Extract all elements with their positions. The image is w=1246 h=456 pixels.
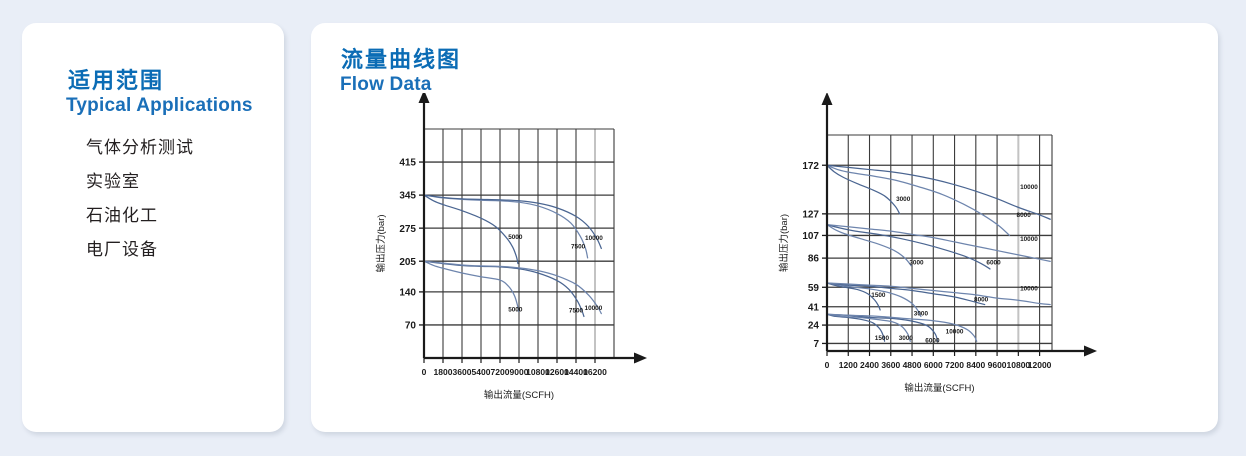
curve-label: 10000 — [1020, 286, 1038, 293]
x-axis-title: 输出流量(SCFH) — [484, 389, 554, 401]
x-axis-arrow-icon — [634, 353, 647, 364]
curve-label: 6000 — [925, 337, 940, 344]
x-tick-label: 9600 — [988, 360, 1007, 370]
flow-chart-1-svg: 7014020527534541501800360054007200900010… — [325, 93, 745, 423]
y-tick-label: 70 — [405, 321, 417, 332]
curve-label: 10000 — [585, 305, 603, 312]
list-item: 石油化工 — [66, 199, 266, 233]
curve-label: 7500 — [569, 308, 584, 315]
y-tick-label: 415 — [399, 158, 416, 169]
x-tick-label: 3600 — [881, 360, 900, 370]
y-tick-label: 59 — [808, 283, 820, 294]
y-tick-label: 86 — [808, 254, 820, 265]
x-tick-label: 5400 — [472, 367, 491, 377]
typical-applications-panel: 适用范围 Typical Applications 气体分析测试 实验室 石油化… — [22, 23, 284, 432]
x-tick-label: 1800 — [434, 367, 453, 377]
applications-list: 气体分析测试 实验室 石油化工 电厂设备 — [66, 131, 266, 267]
y-tick-label: 24 — [808, 321, 820, 332]
page-stage: 适用范围 Typical Applications 气体分析测试 实验室 石油化… — [0, 0, 1246, 456]
x-axis-arrow-icon — [1084, 346, 1097, 357]
y-tick-label: 172 — [802, 161, 819, 172]
y-tick-label: 205 — [399, 257, 416, 268]
y-axis-arrow-icon — [822, 93, 833, 105]
curve-label: 8000 — [974, 296, 989, 303]
curve-label: 3000 — [899, 335, 914, 342]
y-tick-label: 275 — [399, 224, 416, 235]
curve-label: 8000 — [1017, 212, 1032, 219]
x-tick-label: 4800 — [903, 360, 922, 370]
curve-label: 1500 — [871, 292, 886, 299]
curve-label: 3000 — [914, 310, 929, 317]
x-tick-label: 7200 — [945, 360, 964, 370]
x-tick-label: 3600 — [453, 367, 472, 377]
curve-label: 1500 — [875, 335, 890, 342]
flow-chart-1: 7014020527534541501800360054007200900010… — [325, 93, 745, 423]
y-axis-arrow-icon — [419, 93, 430, 103]
y-tick-label: 107 — [802, 231, 819, 242]
x-tick-label: 0 — [825, 360, 830, 370]
x-tick-label: 6000 — [924, 360, 943, 370]
y-axis-title: 输出压力(bar) — [778, 214, 790, 272]
x-axis-title: 输出流量(SCFH) — [904, 382, 974, 394]
curve-label: 10000 — [1020, 184, 1038, 191]
curve-label: 5000 — [508, 234, 523, 241]
x-tick-label: 12000 — [1028, 360, 1052, 370]
curve-label: 3000 — [909, 260, 924, 267]
applications-title-en: Typical Applications — [66, 95, 253, 117]
flow-chart-2-svg: 7244159861071271720120024003600480060007… — [751, 93, 1201, 423]
x-tick-label: 16200 — [583, 367, 607, 377]
flow-data-panel: 流量曲线图 Flow Data 701402052753454150180036… — [311, 23, 1218, 432]
flow-chart-2: 7244159861071271720120024003600480060007… — [751, 93, 1201, 423]
curve-label: 7500 — [571, 243, 586, 250]
curve-label: 3000 — [896, 196, 911, 203]
y-tick-label: 140 — [399, 287, 416, 298]
y-tick-label: 41 — [808, 302, 820, 313]
curve-label: 10000 — [585, 235, 603, 242]
list-item: 实验室 — [66, 165, 266, 199]
x-tick-label: 8400 — [966, 360, 985, 370]
applications-title-cn: 适用范围 — [68, 63, 164, 95]
list-item: 气体分析测试 — [66, 131, 266, 165]
x-tick-label: 2400 — [860, 360, 879, 370]
y-tick-label: 345 — [399, 191, 416, 202]
flowdata-title-cn: 流量曲线图 — [341, 42, 461, 74]
x-tick-label: 0 — [422, 367, 427, 377]
curve-label: 6000 — [986, 260, 1001, 267]
curve-label: 10000 — [946, 329, 964, 336]
curve-label: 5000 — [508, 307, 523, 314]
x-tick-label: 1200 — [839, 360, 858, 370]
y-tick-label: 127 — [802, 209, 819, 220]
list-item: 电厂设备 — [66, 233, 266, 267]
y-tick-label: 7 — [813, 339, 819, 350]
curve-label: 10000 — [1020, 236, 1038, 243]
y-axis-title: 输出压力(bar) — [375, 214, 387, 272]
x-tick-label: 7200 — [491, 367, 510, 377]
